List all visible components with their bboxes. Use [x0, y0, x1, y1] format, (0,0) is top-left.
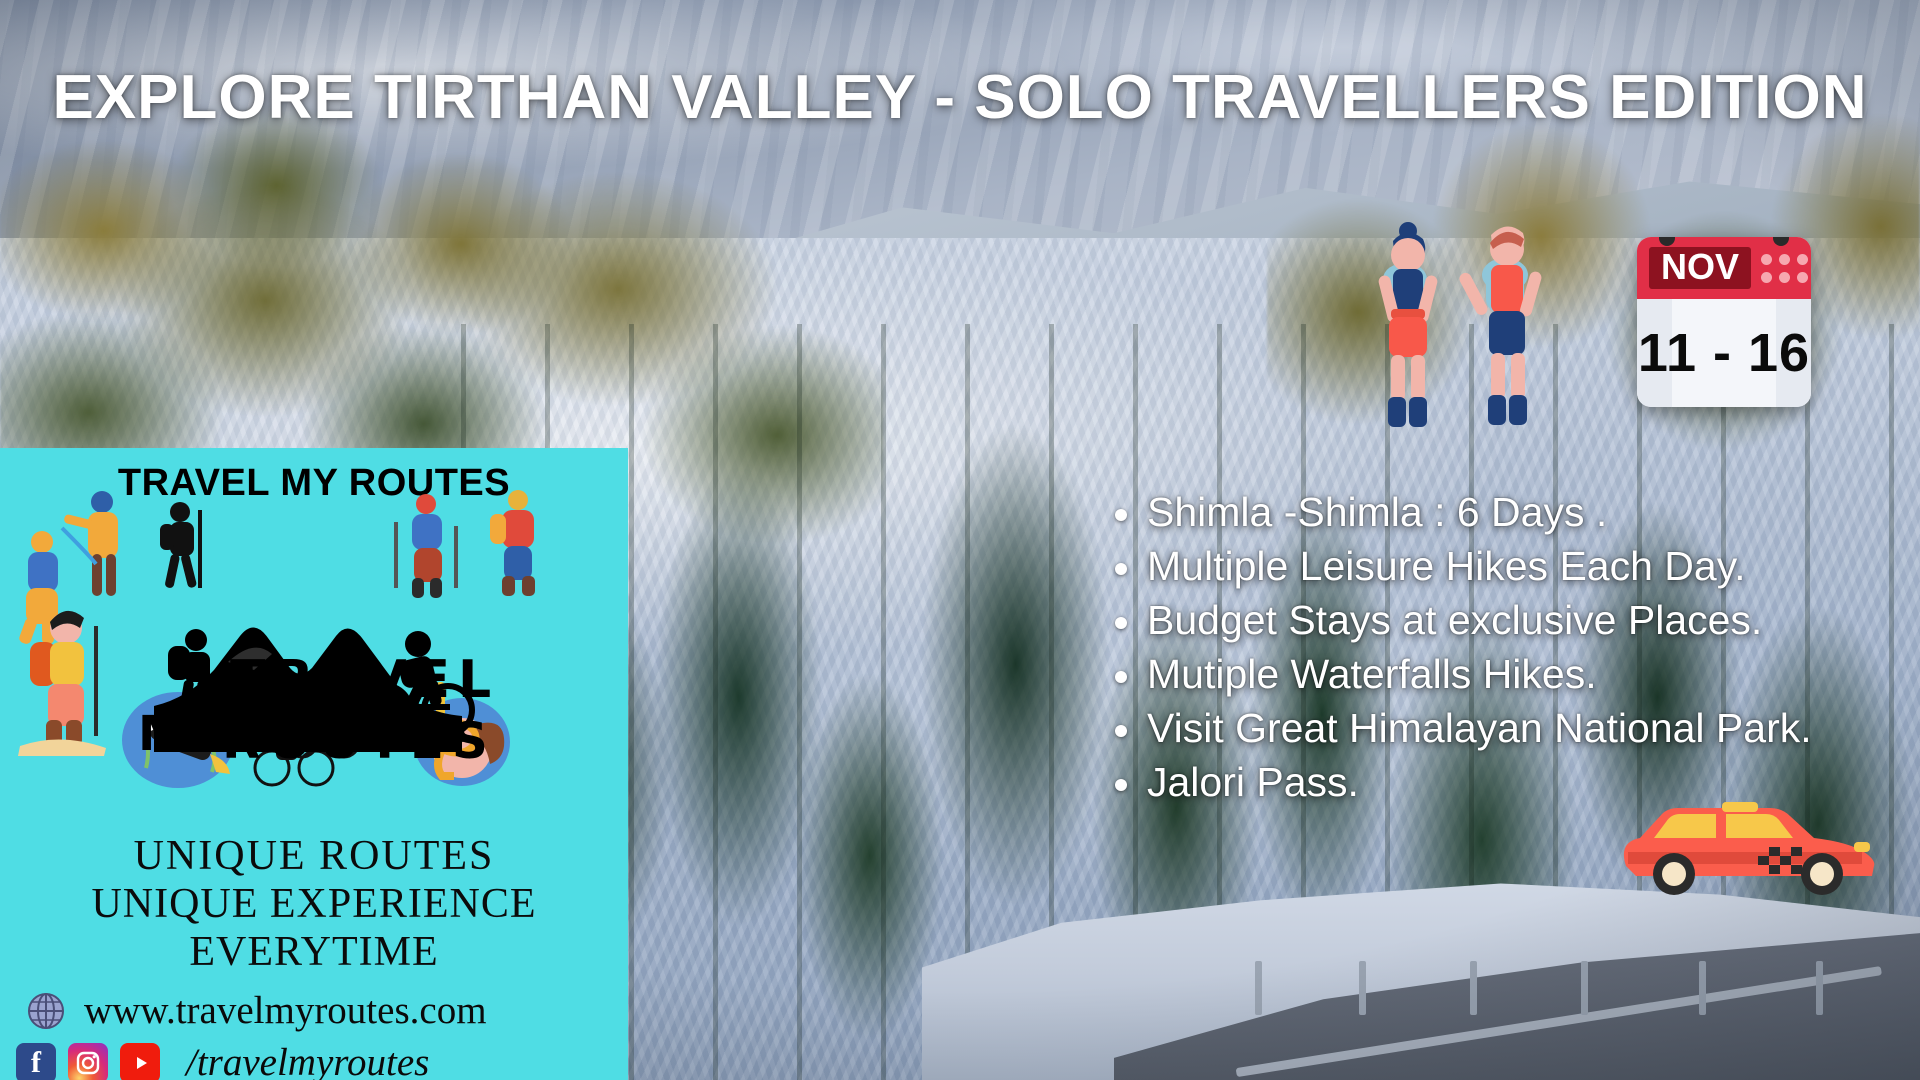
list-item: Mutiple Waterfalls Hikes. — [1105, 647, 1920, 701]
itinerary-list: Shimla -Shimla : 6 Days . Multiple Leisu… — [1105, 485, 1920, 809]
globe-icon — [26, 991, 66, 1031]
hiker-man-icon — [1457, 226, 1542, 425]
calendar-month: NOV — [1649, 247, 1751, 289]
calendar-date-range: 11 - 16 — [1638, 322, 1810, 384]
website-url[interactable]: www.travelmyroutes.com — [84, 988, 487, 1033]
logo-wordmark: MY TRAVEL ROUTES — [130, 634, 520, 774]
youtube-icon[interactable] — [120, 1043, 160, 1080]
calendar-dots-icon — [1761, 254, 1808, 283]
logo-word-travel: TRAVEL — [230, 650, 499, 710]
social-row: f /travelmyroutes — [16, 1040, 429, 1080]
travel-poster: EXPLORE TIRTHAN VALLEY - SOLO TRAVELLERS… — [0, 0, 1920, 1080]
slogan-line-2: UNIQUE EXPERIENCE — [0, 880, 628, 928]
list-item: Budget Stays at exclusive Places. — [1105, 593, 1920, 647]
page-title: EXPLORE TIRTHAN VALLEY - SOLO TRAVELLERS… — [0, 62, 1920, 133]
hiker-couple-illustration — [1345, 205, 1575, 455]
slogan-line-1: UNIQUE ROUTES — [0, 832, 628, 880]
brand-card: TRAVEL MY ROUTES — [0, 448, 628, 1080]
website-row[interactable]: www.travelmyroutes.com — [26, 988, 487, 1033]
instagram-icon[interactable] — [68, 1043, 108, 1080]
list-item: Visit Great Himalayan National Park. — [1105, 701, 1920, 755]
list-item: Shimla -Shimla : 6 Days . — [1105, 485, 1920, 539]
facebook-icon[interactable]: f — [16, 1043, 56, 1080]
calendar-header: NOV — [1637, 237, 1811, 299]
hiker-woman-icon — [1377, 222, 1438, 427]
logo-word-routes: ROUTES — [222, 712, 496, 770]
date-badge: NOV 11 - 16 — [1637, 237, 1811, 407]
calendar-ring-right — [1773, 237, 1789, 246]
social-handle[interactable]: /travelmyroutes — [186, 1040, 429, 1080]
taxi-car-icon — [1610, 790, 1880, 900]
slogan-line-3: EVERYTIME — [0, 928, 628, 976]
backpacker-woman-icon — [10, 608, 120, 758]
calendar-ring-left — [1659, 237, 1675, 246]
list-item: Multiple Leisure Hikes Each Day. — [1105, 539, 1920, 593]
calendar-body: 11 - 16 — [1637, 299, 1811, 407]
logo-word-my: MY — [138, 706, 229, 762]
